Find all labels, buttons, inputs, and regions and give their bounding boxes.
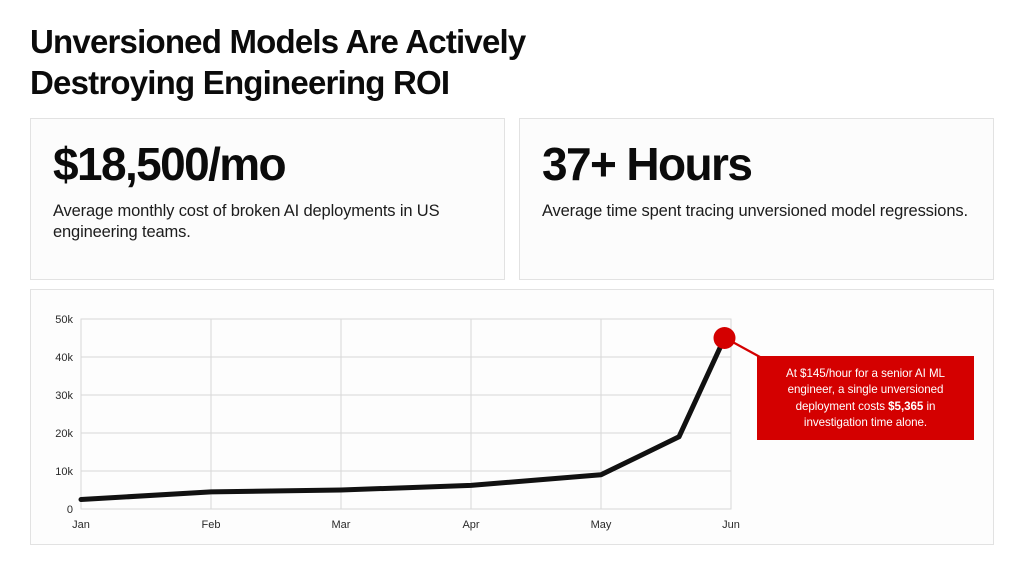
stat-card-group: $18,500/mo Average monthly cost of broke… <box>30 118 994 280</box>
x-axis-tick-label: Jun <box>722 519 740 531</box>
stat-card-cost: $18,500/mo Average monthly cost of broke… <box>30 118 505 280</box>
x-axis-tick-label: Apr <box>462 519 479 531</box>
y-axis-tick-label: 20k <box>55 428 73 440</box>
x-axis-tick-label: May <box>591 519 612 531</box>
y-axis-tick-label: 0 <box>67 504 73 516</box>
x-axis-tick-label: Mar <box>332 519 351 531</box>
page-title-line-1: Unversioned Models Are Actively <box>30 22 750 63</box>
x-axis-tick-label: Feb <box>202 519 221 531</box>
x-axis-tick-label: Jan <box>72 519 90 531</box>
stat-description: Average time spent tracing unversioned m… <box>542 201 971 223</box>
stat-value: 37+ Hours <box>542 139 971 191</box>
stat-value: $18,500/mo <box>53 139 482 191</box>
chart-series-line <box>81 338 725 500</box>
y-axis-tick-label: 50k <box>55 314 73 326</box>
y-axis-tick-label: 40k <box>55 352 73 364</box>
y-axis-tick-label: 10k <box>55 466 73 478</box>
callout-text: At $145/hour for a senior AI ML engineer… <box>769 366 962 432</box>
chart-grid <box>81 319 731 509</box>
stat-card-hours: 37+ Hours Average time spent tracing unv… <box>519 118 994 280</box>
callout-box: At $145/hour for a senior AI ML engineer… <box>757 356 974 440</box>
stat-description: Average monthly cost of broken AI deploy… <box>53 201 482 245</box>
y-axis-tick-label: 30k <box>55 390 73 402</box>
page-title-line-2: Destroying Engineering ROI <box>30 63 750 104</box>
chart-axis-labels: 010k20k30k40k50kJanFebMarAprMayJun <box>55 314 740 531</box>
chart-endpoint-marker[interactable] <box>714 327 736 349</box>
infographic-page: Unversioned Models Are Actively Destroyi… <box>0 0 1024 571</box>
callout-highlight-value: $5,365 <box>888 400 923 413</box>
page-title: Unversioned Models Are Actively Destroyi… <box>30 22 750 103</box>
